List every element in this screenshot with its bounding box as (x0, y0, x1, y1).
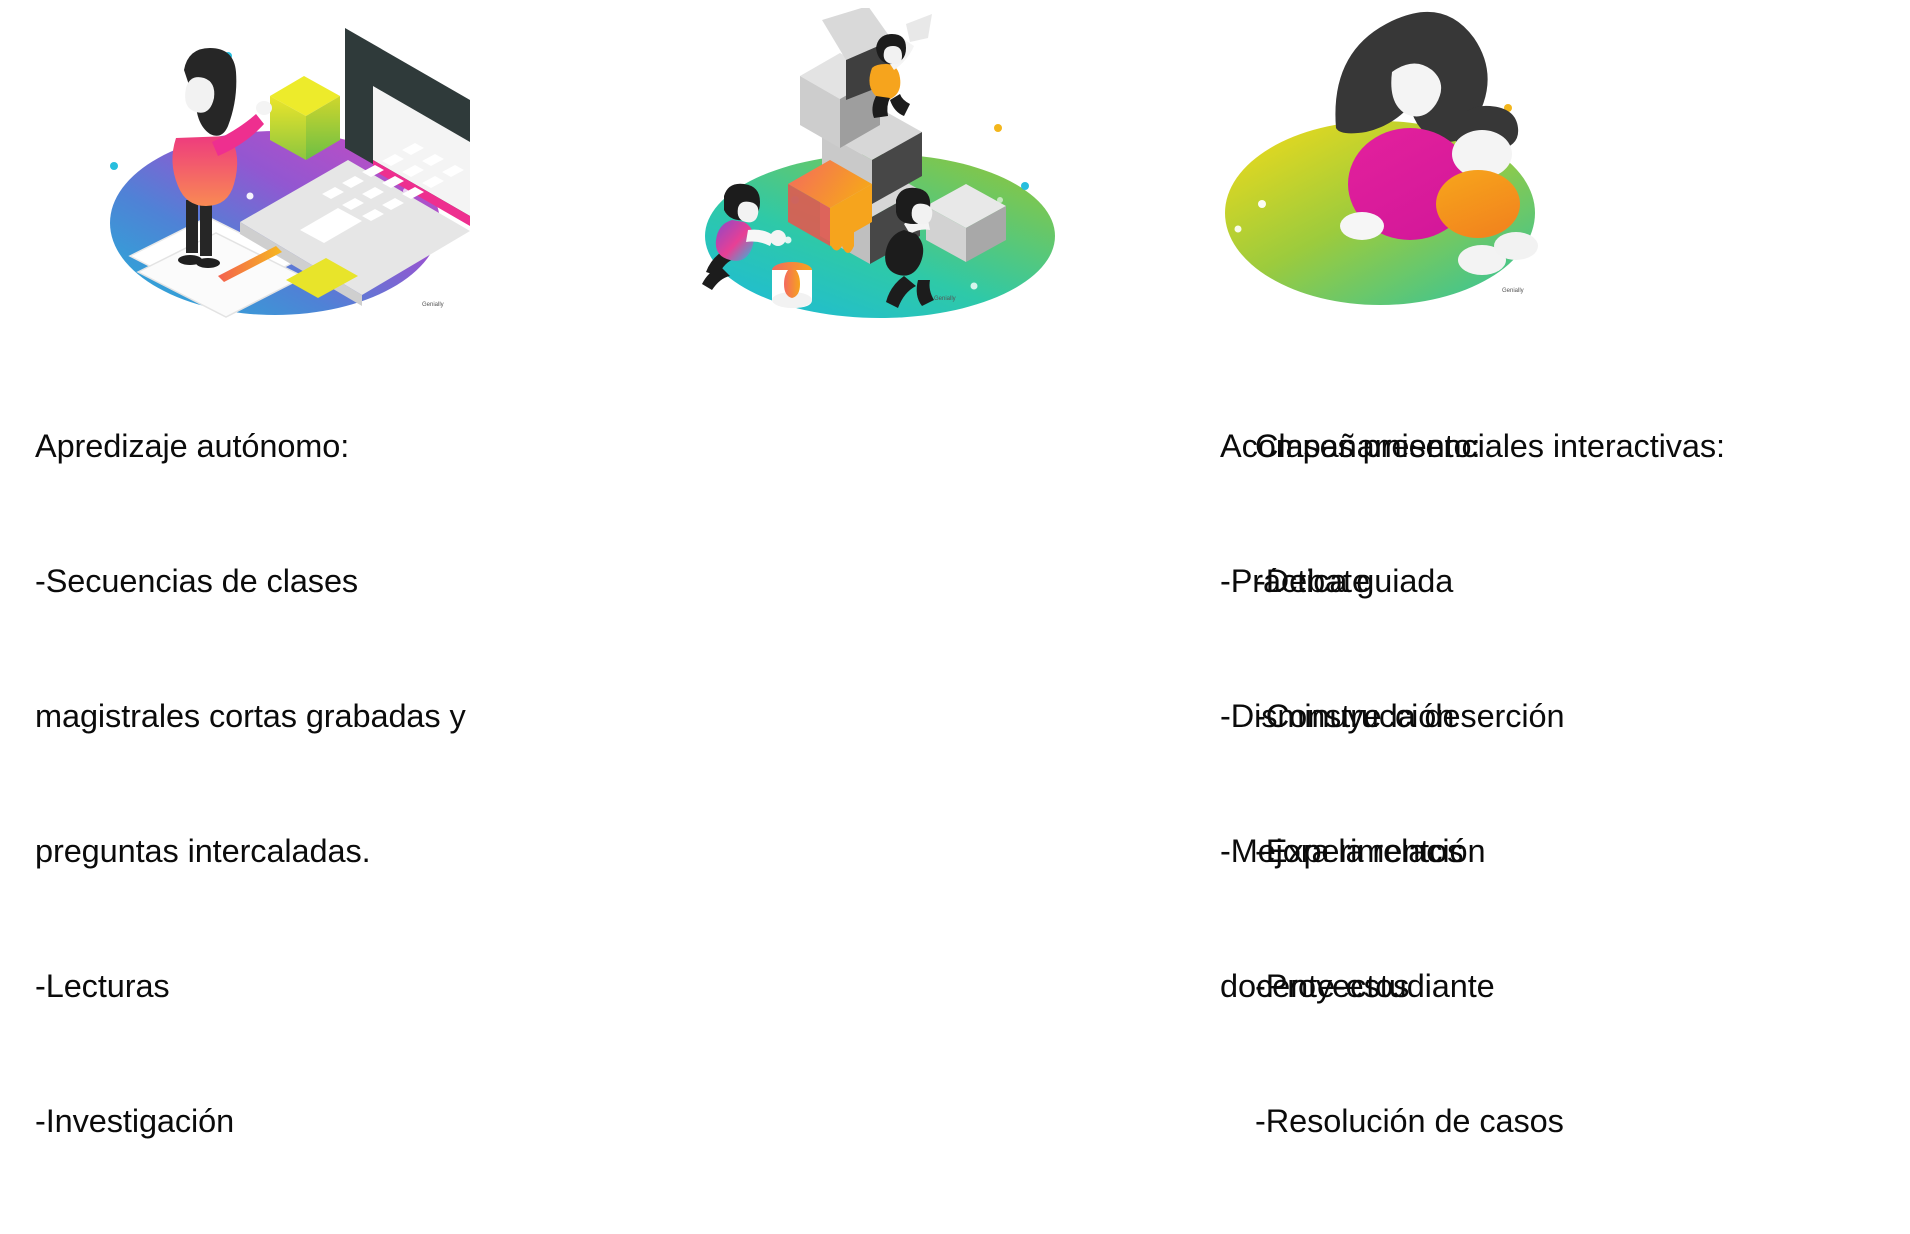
column-3-text: Acompañamiento: -Práctica guiada -Dismin… (1220, 334, 1565, 1099)
column-1-line-2: magistrales cortas grabadas y (35, 694, 466, 739)
content-column-2: Genially Clases presenciales interactiva… (620, 0, 1220, 748)
interactive-classes-illustration: Genially (680, 8, 1080, 326)
watermark-label: Genially (934, 296, 956, 302)
column-1-line-4: -Lecturas (35, 964, 466, 1009)
column-1-line-5: -Investigación (35, 1099, 466, 1144)
content-column-1: Genially Apredizaje autónomo: -Secuencia… (0, 0, 620, 748)
column-1-title: Apredizaje autónomo: (35, 424, 466, 469)
column-1-text: Apredizaje autónomo: -Secuencias de clas… (35, 334, 466, 1234)
watermark-label: Genially (1502, 288, 1524, 294)
content-column-3: Genially Acompañamiento: -Práctica guiad… (1220, 0, 1910, 748)
column-1-line-1: -Secuencias de clases (35, 559, 466, 604)
mentoring-illustration: Genially (1220, 8, 1550, 326)
column-3-line-1: -Práctica guiada (1220, 559, 1565, 604)
slide-canvas: Genially Apredizaje autónomo: -Secuencia… (0, 0, 1910, 748)
paint-bucket (772, 262, 812, 308)
column-1-line-3: preguntas intercaladas. (35, 829, 466, 874)
autonomous-learning-illustration: Genially (90, 8, 470, 326)
column-3-title: Acompañamiento: (1220, 424, 1565, 469)
watermark-label: Genially (422, 302, 444, 308)
column-3-line-2: -Disminuye la deserción (1220, 694, 1565, 739)
column-3-line-4: docente-estudiante (1220, 964, 1565, 1009)
column-2-line-5: -Resolución de casos (1255, 1099, 1725, 1144)
column-3-line-3: -Mejora la relación (1220, 829, 1565, 874)
